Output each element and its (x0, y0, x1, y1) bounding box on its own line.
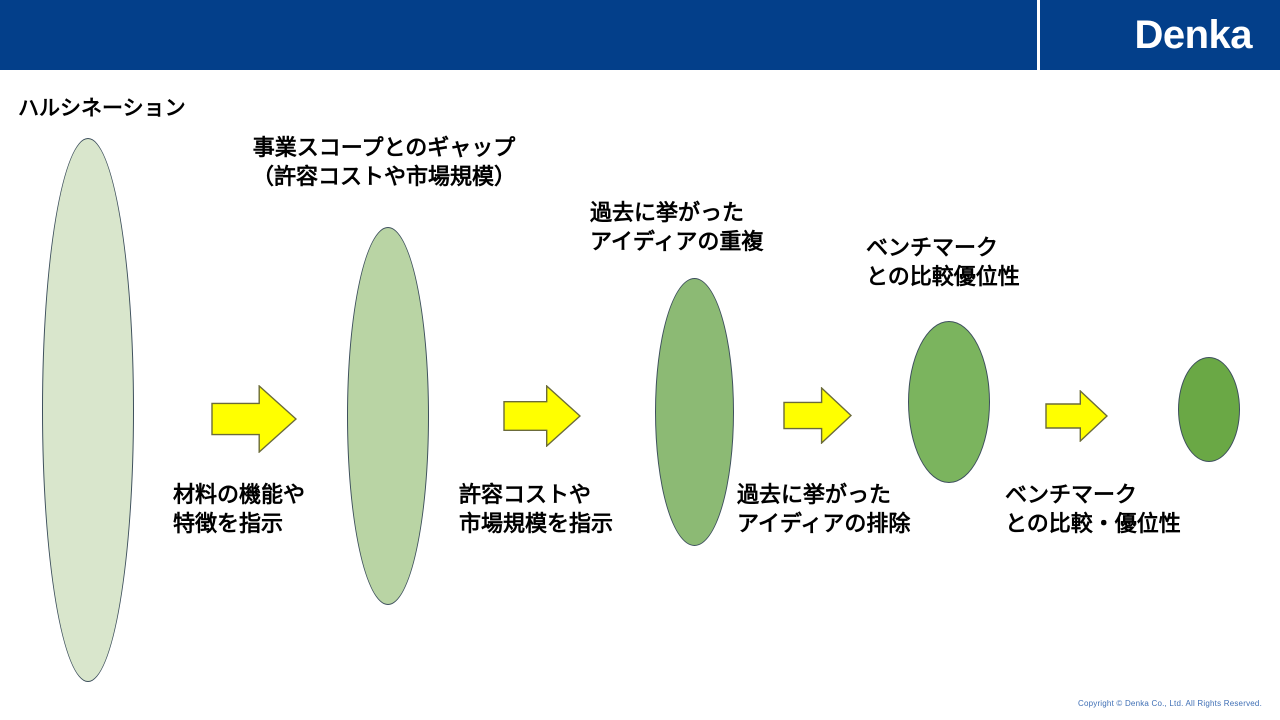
stage-caption-2: 許容コストや市場規模を指示 (459, 480, 613, 538)
issue-caption-3: ベンチマークとの比較優位性 (866, 233, 1020, 291)
caption-line: 許容コストや (459, 482, 591, 507)
header-divider (1037, 0, 1040, 70)
page-title: ハルシネーション (18, 92, 186, 122)
copyright-notice: Copyright © Denka Co., Ltd. All Rights R… (1078, 699, 1262, 708)
right-arrow-icon-1 (211, 385, 297, 453)
caption-line: アイディアの排除 (737, 511, 910, 536)
caption-line: 市場規模を指示 (459, 511, 613, 536)
caption-line: アイディアの重複 (590, 229, 763, 254)
caption-line: ベンチマーク (1005, 482, 1137, 507)
caption-line: 特徴を指示 (173, 511, 283, 536)
right-arrow-icon-2 (503, 385, 581, 447)
right-arrow-icon-3 (783, 387, 852, 444)
stage-caption-4: ベンチマークとの比較・優位性 (1005, 480, 1181, 538)
caption-line: との比較優位性 (866, 264, 1020, 289)
stage-ellipse-4 (908, 321, 990, 483)
stage-ellipse-1 (42, 138, 134, 682)
stage-caption-3: 過去に挙がったアイディアの排除 (737, 480, 910, 538)
caption-line: との比較・優位性 (1005, 511, 1181, 536)
stage-caption-1: 材料の機能や特徴を指示 (173, 480, 305, 538)
issue-caption-1: 事業スコープとのギャップ（許容コストや市場規模） (252, 133, 516, 191)
caption-line: 材料の機能や (173, 482, 305, 507)
caption-line: 過去に挙がった (590, 200, 744, 225)
caption-line: （許容コストや市場規模） (252, 164, 516, 189)
right-arrow-icon-4 (1045, 390, 1108, 442)
caption-line: 過去に挙がった (737, 482, 891, 507)
stage-ellipse-3 (655, 278, 734, 546)
stage-ellipse-2 (347, 227, 429, 605)
caption-line: 事業スコープとのギャップ (253, 135, 515, 160)
header-underline (0, 70, 1280, 72)
caption-line: ベンチマーク (866, 235, 998, 260)
denka-logo: Denka (1134, 12, 1252, 58)
slide-canvas: Denka ハルシネーション 材料の機能や特徴を指示 許容コストや市場規模を指示… (0, 0, 1280, 720)
header-bar (0, 0, 1280, 70)
stage-ellipse-5 (1178, 357, 1240, 462)
issue-caption-2: 過去に挙がったアイディアの重複 (590, 198, 763, 256)
